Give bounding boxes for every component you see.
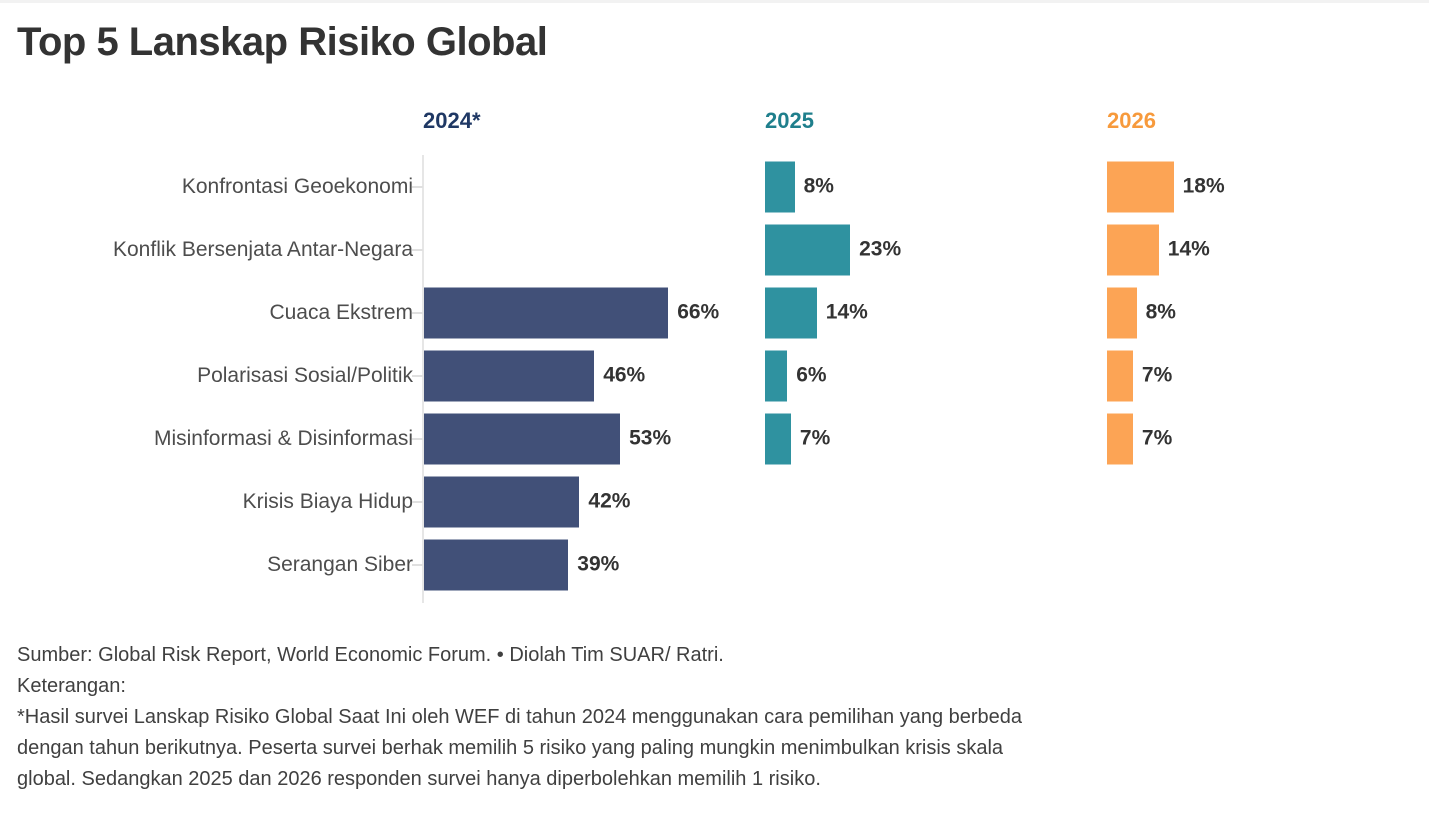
bar-value-label: 8% xyxy=(1146,301,1176,325)
row-label-2: Konflik Bersenjata Antar-Negara xyxy=(113,238,413,262)
chart-row: Polarisasi Sosial/Politik46%6%7% xyxy=(0,344,1429,407)
bar-value-label: 66% xyxy=(677,301,719,325)
bar-group-2025: 7% xyxy=(765,413,830,464)
bar-2024-row3[interactable] xyxy=(424,287,668,338)
bar-2025-row2[interactable] xyxy=(765,224,850,275)
row-label-3: Cuaca Ekstrem xyxy=(269,301,413,325)
source-line: Sumber: Global Risk Report, World Econom… xyxy=(17,640,1417,671)
bar-value-label: 18% xyxy=(1183,175,1225,199)
axis-tick xyxy=(412,375,423,377)
bar-group-2024: 42% xyxy=(424,476,630,527)
bar-2024-row4[interactable] xyxy=(424,350,594,401)
page-title: Top 5 Lanskap Risiko Global xyxy=(17,20,547,65)
row-label-7: Serangan Siber xyxy=(267,553,413,577)
axis-tick xyxy=(412,564,423,566)
bar-value-label: 46% xyxy=(603,364,645,388)
bar-2024-row6[interactable] xyxy=(424,476,579,527)
bar-2025-row4[interactable] xyxy=(765,350,787,401)
chart-footnotes: Sumber: Global Risk Report, World Econom… xyxy=(17,640,1417,795)
bar-group-2026: 8% xyxy=(1107,287,1176,338)
chart-row: Serangan Siber39% xyxy=(0,533,1429,596)
column-header-2024: 2024* xyxy=(423,108,481,134)
column-header-2026: 2026 xyxy=(1107,108,1156,134)
bar-group-2024: 39% xyxy=(424,539,619,590)
bar-group-2026: 14% xyxy=(1107,224,1210,275)
bar-value-label: 8% xyxy=(804,175,834,199)
bar-value-label: 7% xyxy=(1142,427,1172,451)
bar-2026-row5[interactable] xyxy=(1107,413,1133,464)
bar-chart-plot: Konfrontasi Geoekonomi8%18%Konflik Berse… xyxy=(0,155,1429,610)
chart-row: Cuaca Ekstrem66%14%8% xyxy=(0,281,1429,344)
keterangan-label: Keterangan: xyxy=(17,671,1417,702)
bar-value-label: 53% xyxy=(629,427,671,451)
bar-value-label: 39% xyxy=(577,553,619,577)
bar-value-label: 7% xyxy=(1142,364,1172,388)
bar-2024-row5[interactable] xyxy=(424,413,620,464)
chart-row: Krisis Biaya Hidup42% xyxy=(0,470,1429,533)
row-label-4: Polarisasi Sosial/Politik xyxy=(197,364,413,388)
bar-2025-row5[interactable] xyxy=(765,413,791,464)
bar-group-2025: 6% xyxy=(765,350,827,401)
note-line-1: *Hasil survei Lanskap Risiko Global Saat… xyxy=(17,702,1417,733)
bar-2026-row4[interactable] xyxy=(1107,350,1133,401)
bar-2026-row2[interactable] xyxy=(1107,224,1159,275)
chart-row: Konflik Bersenjata Antar-Negara23%14% xyxy=(0,218,1429,281)
bar-group-2025: 8% xyxy=(765,161,834,212)
bar-group-2024: 53% xyxy=(424,413,671,464)
bar-group-2024: 66% xyxy=(424,287,719,338)
chart-row: Konfrontasi Geoekonomi8%18% xyxy=(0,155,1429,218)
bar-value-label: 6% xyxy=(796,364,826,388)
bar-value-label: 14% xyxy=(1168,238,1210,262)
bar-value-label: 42% xyxy=(588,490,630,514)
top-divider xyxy=(0,0,1429,3)
axis-tick xyxy=(412,501,423,503)
row-label-1: Konfrontasi Geoekonomi xyxy=(182,175,413,199)
bar-value-label: 7% xyxy=(800,427,830,451)
bar-2025-row3[interactable] xyxy=(765,287,817,338)
axis-tick xyxy=(412,438,423,440)
row-label-6: Krisis Biaya Hidup xyxy=(243,490,413,514)
bar-group-2026: 7% xyxy=(1107,413,1172,464)
row-label-5: Misinformasi & Disinformasi xyxy=(154,427,413,451)
axis-tick xyxy=(412,312,423,314)
bar-group-2026: 7% xyxy=(1107,350,1172,401)
bar-value-label: 23% xyxy=(859,238,901,262)
bar-2026-row1[interactable] xyxy=(1107,161,1174,212)
bar-2026-row3[interactable] xyxy=(1107,287,1137,338)
bar-2025-row1[interactable] xyxy=(765,161,795,212)
column-header-2025: 2025 xyxy=(765,108,814,134)
note-line-3: global. Sedangkan 2025 dan 2026 responde… xyxy=(17,764,1417,795)
bar-2024-row7[interactable] xyxy=(424,539,568,590)
note-line-2: dengan tahun berikutnya. Peserta survei … xyxy=(17,733,1417,764)
chart-row: Misinformasi & Disinformasi53%7%7% xyxy=(0,407,1429,470)
axis-tick xyxy=(412,186,423,188)
bar-group-2025: 14% xyxy=(765,287,868,338)
bar-group-2025: 23% xyxy=(765,224,901,275)
bar-group-2024: 46% xyxy=(424,350,645,401)
axis-tick xyxy=(412,249,423,251)
bar-group-2026: 18% xyxy=(1107,161,1225,212)
bar-value-label: 14% xyxy=(826,301,868,325)
